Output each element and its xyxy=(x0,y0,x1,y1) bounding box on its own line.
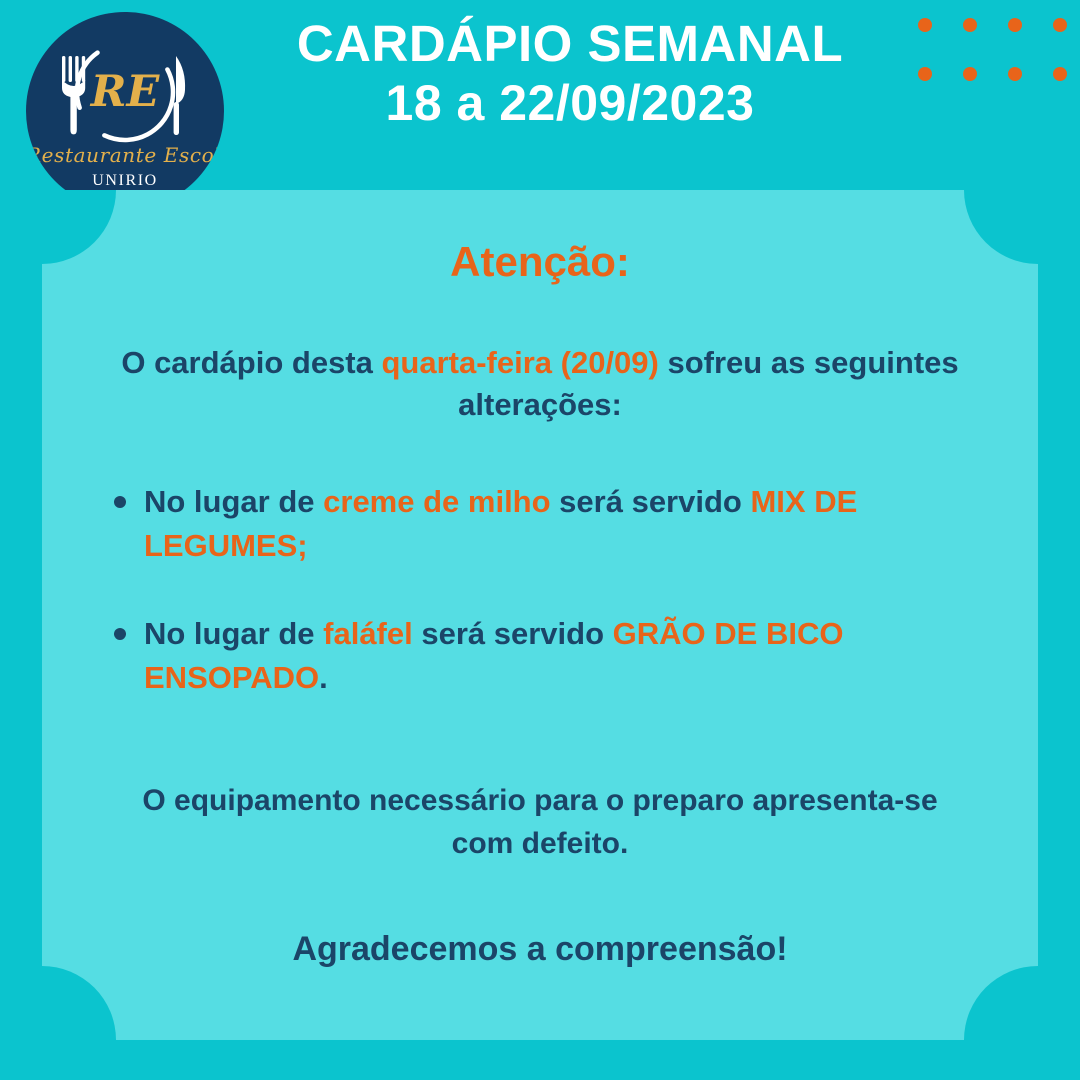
dot-icon xyxy=(963,18,977,32)
notice-panel: Atenção: O cardápio desta quarta-feira (… xyxy=(42,190,1038,1040)
list-item: No lugar de creme de milho será servido … xyxy=(100,480,990,568)
dot-icon xyxy=(918,67,932,81)
dot-icon xyxy=(1008,18,1022,32)
logo-subtitle: UNIRIO xyxy=(26,172,224,190)
intro-paragraph: O cardápio desta quarta-feira (20/09) so… xyxy=(100,342,980,425)
bullet-1-text-part-2: será servido xyxy=(551,484,751,519)
dot-icon xyxy=(1053,67,1067,81)
bullet-2-text-part-3: . xyxy=(319,660,328,695)
dot-icon xyxy=(918,18,932,32)
thanks-message: Agradecemos a compreensão! xyxy=(100,930,980,969)
attention-heading: Atenção: xyxy=(42,238,1038,286)
intro-text-part-1: O cardápio desta xyxy=(121,345,381,380)
bullet-dot-icon xyxy=(114,496,126,508)
logo-wordmark: Restaurante Escola xyxy=(26,143,224,167)
bullet-1-highlight-removed: creme de milho xyxy=(323,484,550,519)
dot-icon xyxy=(1008,67,1022,81)
restaurant-logo: RE Restaurante Escola UNIRIO xyxy=(26,12,224,210)
bullet-1-text-part-1: No lugar de xyxy=(144,484,323,519)
intro-highlight-weekday: quarta-feira (20/09) xyxy=(381,345,658,380)
decorative-dot-grid xyxy=(918,18,1067,81)
changes-list: No lugar de creme de milho será servido … xyxy=(100,480,990,744)
svg-text:RE: RE xyxy=(89,67,161,117)
dot-icon xyxy=(963,67,977,81)
reason-note: O equipamento necessário para o preparo … xyxy=(120,780,960,865)
list-item: No lugar de faláfel será servido GRÃO DE… xyxy=(100,612,990,700)
poster-canvas: RE Restaurante Escola UNIRIO CARDÁPIO SE… xyxy=(0,0,1080,1080)
title-line-1: CARDÁPIO SEMANAL xyxy=(230,16,910,71)
poster-title: CARDÁPIO SEMANAL 18 a 22/09/2023 xyxy=(230,16,910,133)
header-band: RE Restaurante Escola UNIRIO CARDÁPIO SE… xyxy=(0,0,1080,190)
dot-icon xyxy=(1053,18,1067,32)
bullet-2-text-part-2: será servido xyxy=(413,616,613,651)
bullet-dot-icon xyxy=(114,628,126,640)
bullet-2-text-part-1: No lugar de xyxy=(144,616,323,651)
title-line-2: 18 a 22/09/2023 xyxy=(230,75,910,133)
bullet-2-highlight-removed: faláfel xyxy=(323,616,413,651)
notice-content: Atenção: O cardápio desta quarta-feira (… xyxy=(42,190,1038,1040)
